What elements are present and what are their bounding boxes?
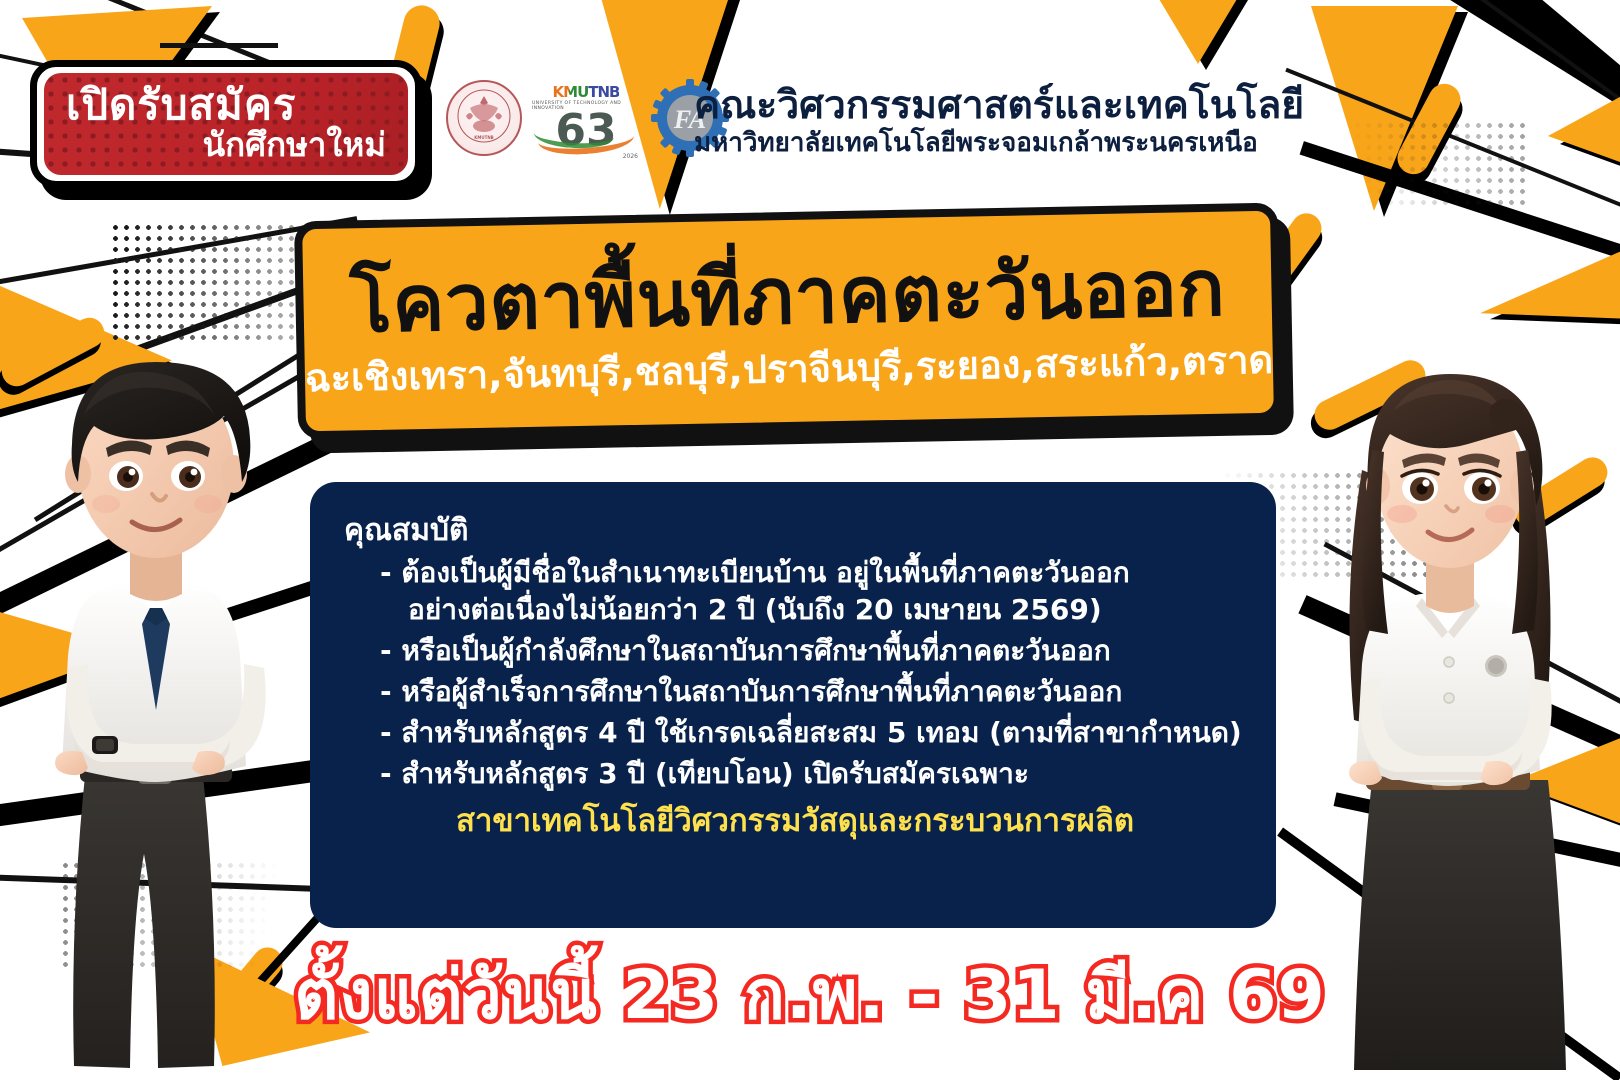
qualification-line-continued: อย่างต่อเนื่องไม่น้อยกว่า 2 ปี (นับถึง 2… xyxy=(380,592,1246,629)
qualification-line: - สำหรับหลักสูตร 3 ปี (เทียบโอน) เปิดรับ… xyxy=(380,757,1029,790)
qualifications-list: - ต้องเป็นผู้มีชื่อในสำเนาทะเบียนบ้าน อย… xyxy=(344,555,1246,793)
university-name-text: มหาวิทยาลัยเทคโนโลยีพระจอมเกล้าพระนครเหน… xyxy=(694,129,1304,158)
title-banner-body: โควตาพื้นที่ภาคตะวันออก (ฉะเชิงเทรา,จันท… xyxy=(294,203,1282,440)
main-title-banner: โควตาพื้นที่ภาคตะวันออก (ฉะเชิงเทรา,จันท… xyxy=(296,212,1292,444)
faculty-heading: คณะวิศวกรรมศาสตร์และเทคโนโลยี มหาวิทยาลั… xyxy=(694,86,1304,158)
quota-title-text: โควตาพื้นที่ภาคตะวันออก xyxy=(349,250,1226,345)
badge-line-1: เปิดรับสมัคร xyxy=(66,84,390,126)
list-item: - สำหรับหลักสูตร 3 ปี (เทียบโอน) เปิดรับ… xyxy=(380,756,1246,793)
qualification-line: - หรือเป็นผู้กำลังศึกษาในสถาบันการศึกษาพ… xyxy=(380,634,1111,667)
badge-line-2: นักศึกษาใหม่ xyxy=(66,128,390,161)
svg-text:KMUTNB: KMUTNB xyxy=(474,135,493,140)
provinces-text: (ฉะเชิงเทรา,จันทบุรี,ชลบุรี,ปราจีนบุรี,ร… xyxy=(294,340,1282,397)
halftone-patch xyxy=(1330,120,1530,210)
logo-group: KMUTNB KMUTNB UNIVERSITY OF TECHNOLOGY A… xyxy=(446,78,730,158)
badge-underline xyxy=(160,43,278,48)
male-student-character xyxy=(20,296,330,1080)
application-period-text: ตั้งแต่วันนี้ 23 ก.พ. - 31 มี.ค 69 xyxy=(294,940,1325,1048)
qualifications-heading: คุณสมบัติ xyxy=(344,514,1246,547)
list-item: - สำหรับหลักสูตร 4 ปี ใช้เกรดเฉลี่ยสะสม … xyxy=(380,715,1246,752)
qualification-line: - หรือผู้สำเร็จการศึกษาในสถาบันการศึกษาพ… xyxy=(380,675,1122,708)
program-highlight-text: สาขาเทคโนโลยีวิศวกรรมวัสดุและกระบวนการผล… xyxy=(344,803,1246,840)
list-item: - หรือผู้สำเร็จการศึกษาในสถาบันการศึกษาพ… xyxy=(380,674,1246,711)
qualification-line: - ต้องเป็นผู้มีชื่อในสำเนาทะเบียนบ้าน อย… xyxy=(380,556,1130,589)
qualification-line: - สำหรับหลักสูตร 4 ปี ใช้เกรดเฉลี่ยสะสม … xyxy=(380,716,1242,749)
qualifications-panel: คุณสมบัติ - ต้องเป็นผู้มีชื่อในสำเนาทะเบ… xyxy=(310,482,1276,928)
anniversary-brand-text: KMUTNB xyxy=(553,85,620,100)
anniversary-63-logo-icon: KMUTNB UNIVERSITY OF TECHNOLOGY AND INNO… xyxy=(532,78,640,158)
seal-inner-mark: KMUTNB xyxy=(456,88,512,147)
badge-body: เปิดรับสมัคร นักศึกษาใหม่ xyxy=(44,73,408,175)
poster-root: เปิดรับสมัคร นักศึกษาใหม่ KMUTNB KMUTNB xyxy=(0,0,1620,1080)
anniversary-year-text: 2026 xyxy=(623,153,638,160)
list-item: - หรือเป็นผู้กำลังศึกษาในสถาบันการศึกษาพ… xyxy=(380,633,1246,670)
kmutnb-royal-seal-icon: KMUTNB xyxy=(446,80,522,156)
faculty-name-text: คณะวิศวกรรมศาสตร์และเทคโนโลยี xyxy=(694,86,1304,127)
female-student-character xyxy=(1310,310,1610,1080)
list-item: - ต้องเป็นผู้มีชื่อในสำเนาทะเบียนบ้าน อย… xyxy=(380,555,1246,629)
